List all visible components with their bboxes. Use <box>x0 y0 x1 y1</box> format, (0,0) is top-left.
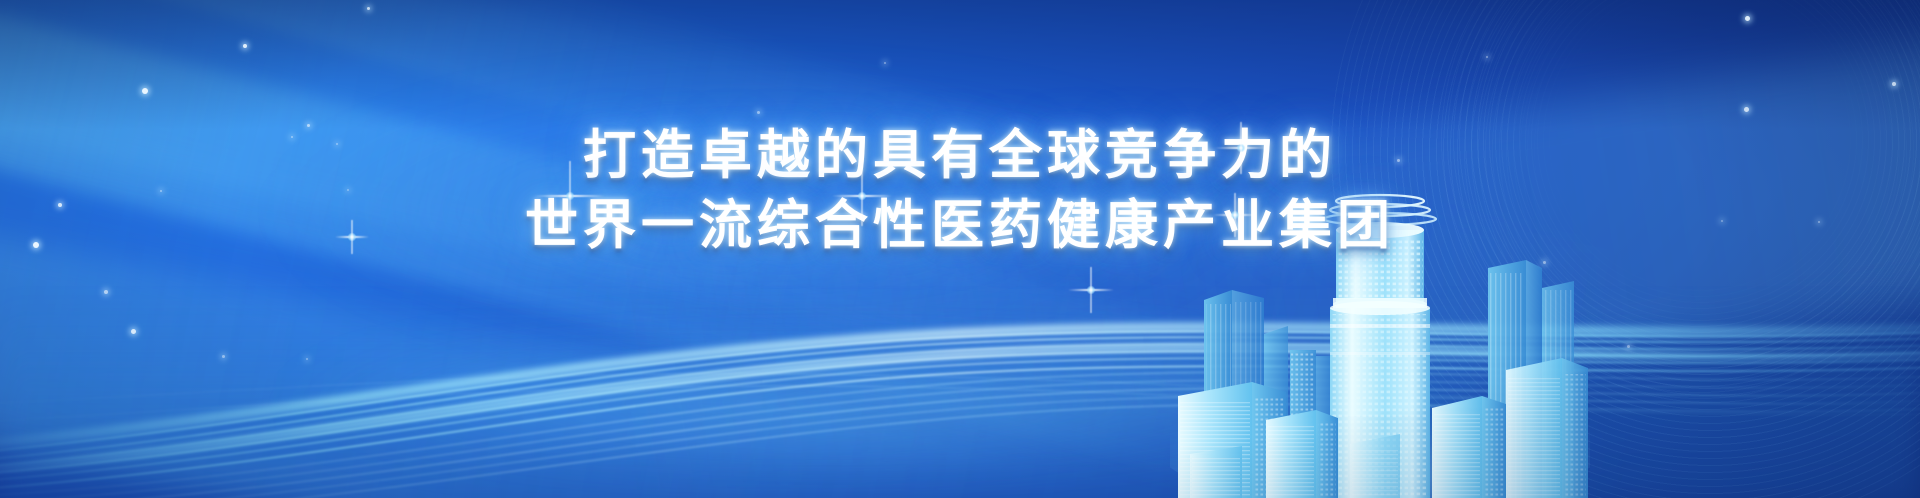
city-skyline-svg <box>1170 138 1590 498</box>
city-skyline <box>1170 138 1590 498</box>
wave-streaks-svg <box>0 208 1920 498</box>
flowing-light-waves <box>0 208 1920 498</box>
hero-banner: 打造卓越的具有全球竞争力的 世界一流综合性医药健康产业集团 <box>0 0 1920 498</box>
